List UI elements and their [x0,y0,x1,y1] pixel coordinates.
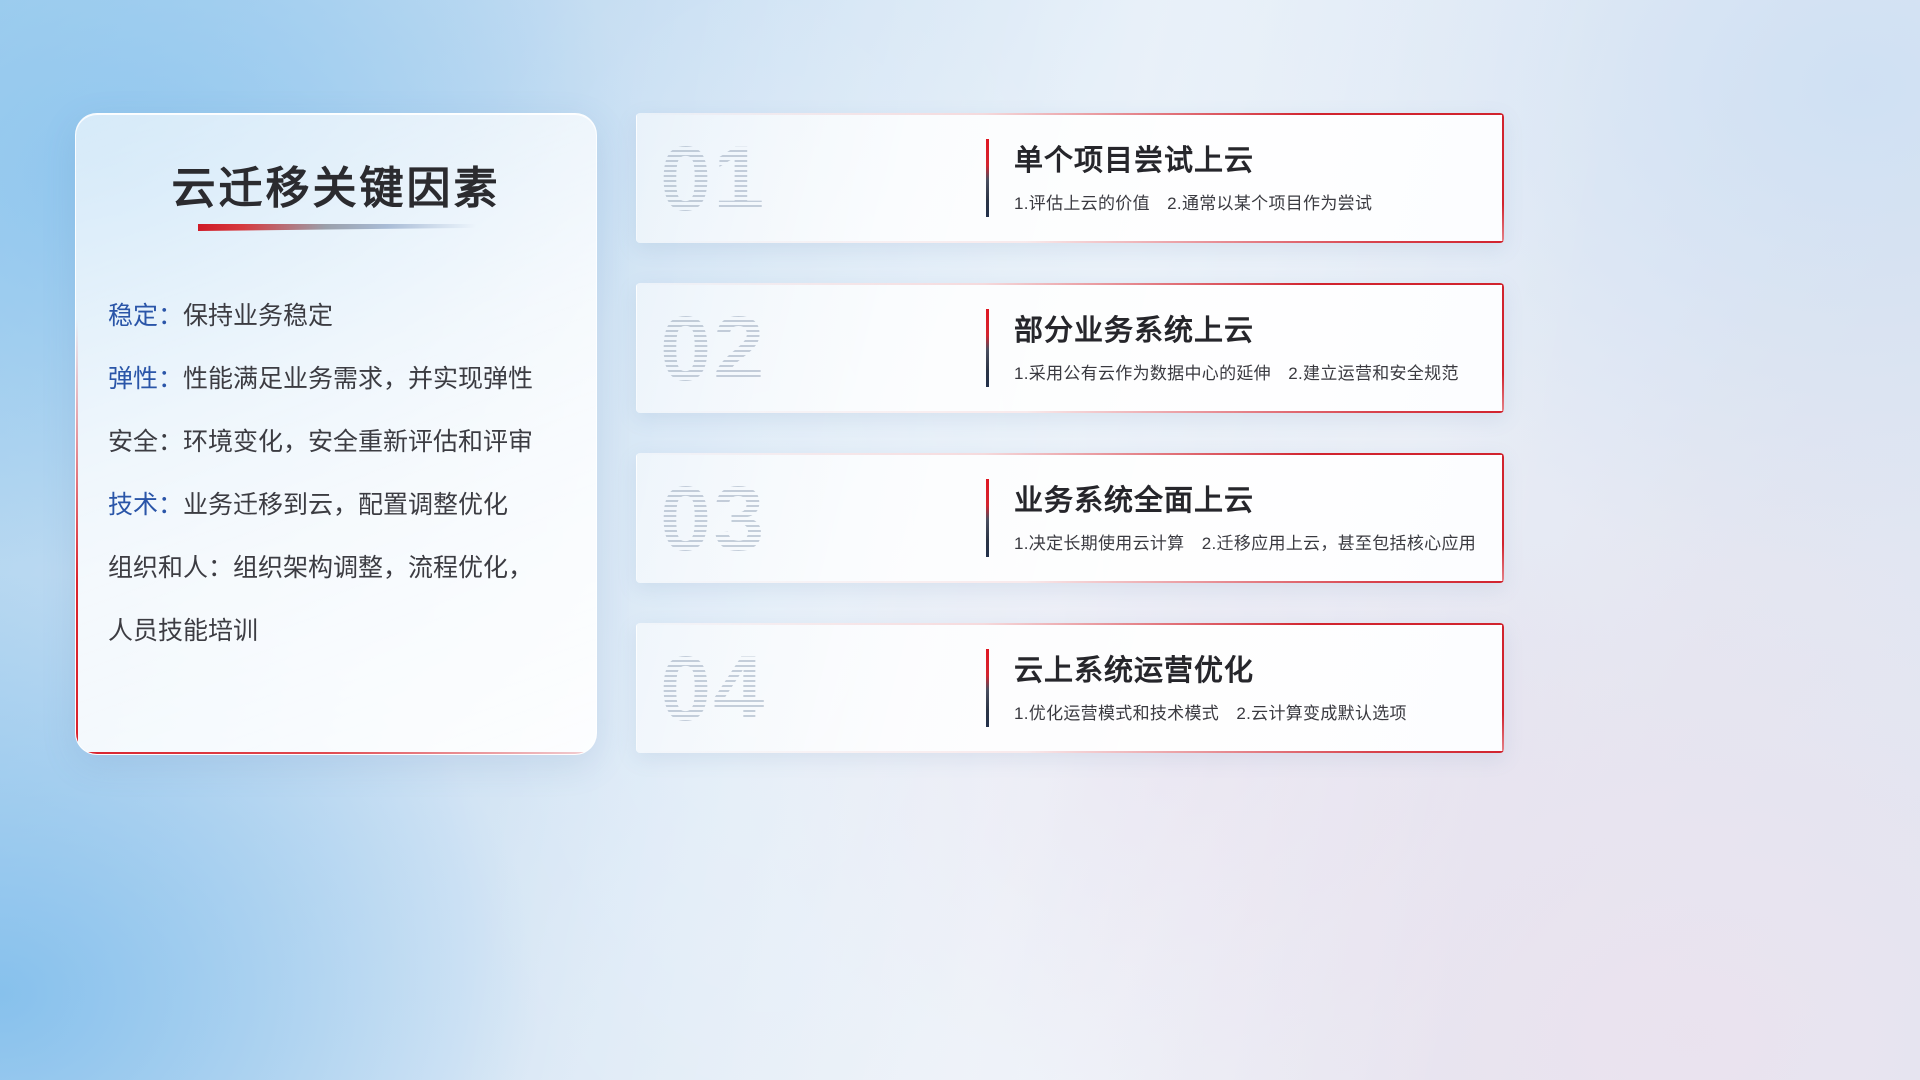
factor-item: 弹性：性能满足业务需求，并实现弹性 [108,367,572,392]
stage-card[interactable]: 02 部分业务系统上云 1.采用公有云作为数据中心的延伸 2.建立运营和安全规范 [636,283,1504,413]
slide-canvas: 云迁移关键因素 稳定：保持业务稳定 弹性：性能满足业务需求，并实现弹性 安全：环… [0,0,1920,1080]
key-factors-panel: 云迁移关键因素 稳定：保持业务稳定 弹性：性能满足业务需求，并实现弹性 安全：环… [75,113,597,755]
card-description: 1.决定长期使用云计算 2.迁移应用上云，甚至包括核心应用 [1014,529,1476,554]
card-bottom-accent [636,241,1504,243]
factor-item-continuation: 人员技能培训 [108,619,572,644]
card-bottom-accent [636,581,1504,583]
stage-card-list: 01 单个项目尝试上云 1.评估上云的价值 2.通常以某个项目作为尝试 02 部… [636,113,1504,793]
card-left-highlight [636,283,637,413]
factor-value: 组织架构调整，流程优化， [233,554,533,582]
factor-value: 人员技能培训 [108,617,258,645]
card-divider-bar [986,649,989,727]
title-underline-gradient [198,224,476,231]
card-right-accent [1502,623,1504,753]
card-divider-bar [986,139,989,217]
factor-value: 保持业务稳定 [183,302,333,330]
factor-value: 环境变化，安全重新评估和评审 [183,428,533,456]
card-description: 1.评估上云的价值 2.通常以某个项目作为尝试 [1014,189,1372,214]
factor-value: 业务迁移到云，配置调整优化 [183,491,508,519]
factor-value: 性能满足业务需求，并实现弹性 [183,365,533,393]
panel-title: 云迁移关键因素 [76,152,596,216]
card-description: 1.采用公有云作为数据中心的延伸 2.建立运营和安全规范 [1014,359,1459,384]
stage-number-watermark: 02 [660,295,840,403]
card-divider-bar [986,479,989,557]
card-bottom-accent [636,411,1504,413]
factor-key: 弹性： [108,365,183,393]
card-title: 云上系统运营优化 [1014,647,1254,689]
card-top-accent [636,283,1504,285]
card-left-highlight [636,453,637,583]
stage-card[interactable]: 03 业务系统全面上云 1.决定长期使用云计算 2.迁移应用上云，甚至包括核心应… [636,453,1504,583]
card-right-accent [1502,283,1504,413]
factor-key: 安全： [108,428,183,456]
factor-item: 安全：环境变化，安全重新评估和评审 [108,430,572,455]
card-right-accent [1502,113,1504,243]
stage-card[interactable]: 01 单个项目尝试上云 1.评估上云的价值 2.通常以某个项目作为尝试 [636,113,1504,243]
card-top-accent [636,623,1504,625]
factor-item: 组织和人：组织架构调整，流程优化， [108,556,572,581]
stage-card[interactable]: 04 云上系统运营优化 1.优化运营模式和技术模式 2.云计算变成默认选项 [636,623,1504,753]
card-title: 业务系统全面上云 [1014,477,1254,519]
panel-left-accent-line [76,319,78,754]
factor-item: 技术：业务迁移到云，配置调整优化 [108,493,572,518]
card-title: 单个项目尝试上云 [1014,137,1254,179]
factor-list: 稳定：保持业务稳定 弹性：性能满足业务需求，并实现弹性 安全：环境变化，安全重新… [108,304,572,682]
card-divider-bar [986,309,989,387]
stage-number-watermark: 04 [660,635,840,743]
card-bottom-accent [636,751,1504,753]
stage-number-watermark: 03 [660,465,840,573]
card-right-accent [1502,453,1504,583]
card-description: 1.优化运营模式和技术模式 2.云计算变成默认选项 [1014,699,1407,724]
stage-number-watermark: 01 [660,125,840,233]
factor-key: 技术： [108,491,183,519]
card-left-highlight [636,113,637,243]
factor-item: 稳定：保持业务稳定 [108,304,572,329]
card-left-highlight [636,623,637,753]
card-title: 部分业务系统上云 [1014,307,1254,349]
card-top-accent [636,113,1504,115]
factor-key: 组织和人： [108,554,233,582]
factor-key: 稳定： [108,302,183,330]
card-top-accent [636,453,1504,455]
panel-bottom-accent-line [76,752,596,754]
